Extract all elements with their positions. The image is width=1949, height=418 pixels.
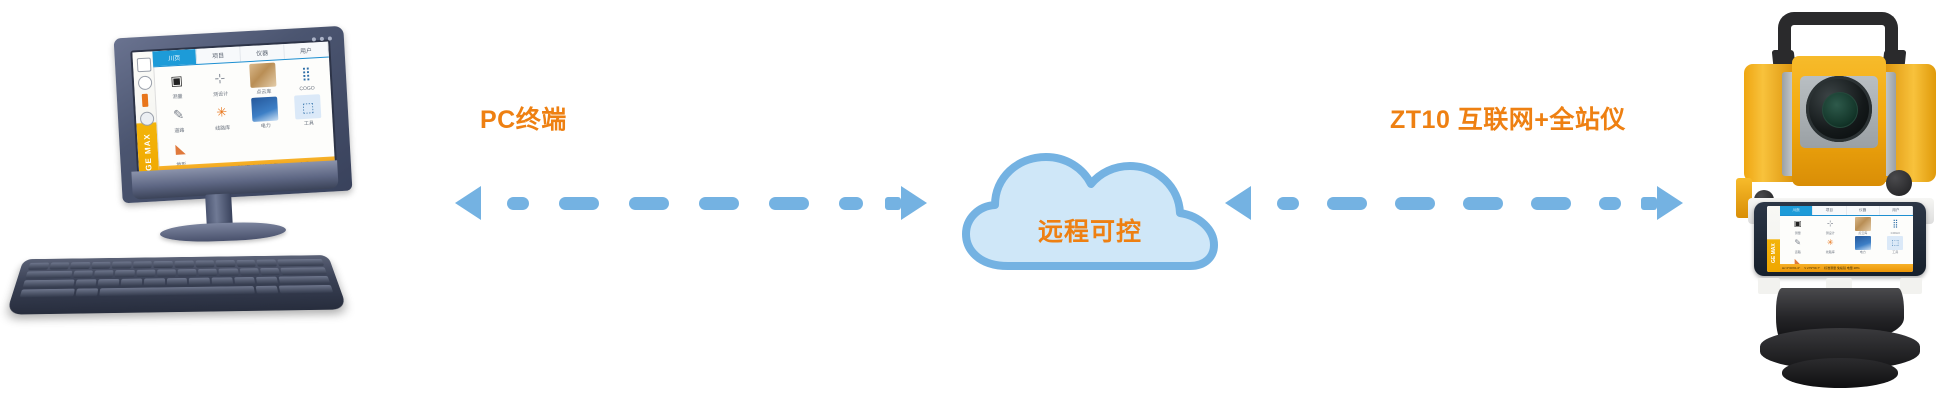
app-tile[interactable]: 点云库: [1847, 217, 1879, 235]
app-label: 线路库: [215, 124, 230, 132]
app-tile[interactable]: ✳ 线路库: [1815, 236, 1847, 254]
key[interactable]: [234, 277, 256, 285]
monitor-stand-base: [160, 221, 287, 243]
dash-segment: [699, 197, 739, 210]
connector-cloud-to-device: [1225, 186, 1705, 220]
tangent-knob-right[interactable]: [1886, 170, 1912, 196]
pc-app-grid: ▣ 测量 ⊹ 测设计 点云库 ⣿ COGO: [155, 60, 331, 165]
road-icon: ✎: [1790, 236, 1806, 250]
key[interactable]: [189, 278, 210, 286]
carry-handle: [1778, 12, 1898, 58]
app-tile[interactable]: ✳ 线路库: [200, 98, 243, 132]
total-station: GE MAX 川页 项目 仪器 用户 ▣ 测量 ⊹ 测设计: [1730, 2, 1945, 418]
key[interactable]: [198, 269, 217, 276]
layout-icon: ⊹: [1822, 217, 1838, 231]
key[interactable]: [70, 262, 90, 269]
app-tile[interactable]: ▣ 测量: [1782, 217, 1814, 235]
dash-segment: [1277, 197, 1299, 210]
arrow-tail: [1641, 197, 1657, 210]
app-tile[interactable]: ⊹ 测设计: [1815, 217, 1847, 235]
arrowhead-left-icon: [1225, 186, 1251, 220]
lens-inner-icon: [1822, 92, 1858, 128]
status-hz: Hz 0°00'01.0": [1782, 266, 1800, 270]
app-tile[interactable]: 点云库: [242, 62, 285, 96]
key[interactable]: [216, 260, 236, 267]
app-label: 工具: [304, 119, 314, 127]
app-label: COGO: [299, 85, 315, 92]
dash-segment: [629, 197, 669, 210]
app-tile[interactable]: 电力: [244, 96, 287, 130]
total-station-icon: ▣: [163, 67, 190, 92]
key[interactable]: [28, 263, 49, 270]
dash-segment: [507, 197, 529, 210]
device-screen-tabbar[interactable]: 川页 项目 仪器 用户: [1780, 206, 1913, 216]
app-tile[interactable]: ▣ 测量: [155, 67, 198, 101]
key[interactable]: [73, 270, 93, 277]
app-tile[interactable]: ⣿ COGO: [1880, 217, 1912, 235]
tab-project[interactable]: 项目: [1813, 206, 1846, 215]
cloud-node[interactable]: 远程可控: [962, 150, 1218, 272]
key-space[interactable]: [100, 286, 255, 296]
layout-icon: ⊹: [206, 65, 233, 90]
key[interactable]: [136, 270, 155, 277]
tab-user[interactable]: 用户: [284, 42, 329, 59]
led-indicator: [312, 37, 316, 41]
arrowhead-right-icon: [901, 186, 927, 220]
key[interactable]: [75, 279, 97, 287]
power-icon: [1855, 236, 1871, 250]
help-icon[interactable]: [137, 58, 152, 73]
cogo-icon: ⣿: [293, 60, 320, 85]
cloud-label: 远程可控: [962, 212, 1218, 248]
pc-screen[interactable]: GE MAX 川页 项目 仪器 用户 ▣ 测量 ⊹: [132, 42, 335, 181]
key[interactable]: [257, 260, 277, 267]
key[interactable]: [260, 268, 280, 275]
dash-segment: [1395, 197, 1435, 210]
key-shift[interactable]: [279, 276, 330, 284]
key[interactable]: [98, 279, 120, 287]
pc-workstation: GE MAX 川页 项目 仪器 用户 ▣ 测量 ⊹: [10, 18, 360, 318]
device-screen-sidebar[interactable]: GE MAX: [1767, 206, 1780, 272]
device-status-bar: Hz 0°00'01.0" V 279°59.7" 标准测量 免棱镜 电量 28…: [1780, 264, 1913, 272]
app-tile[interactable]: 电力: [1847, 236, 1879, 254]
arrow-tail: [885, 197, 901, 210]
key[interactable]: [236, 260, 256, 267]
diagram-canvas: GE MAX 川页 项目 仪器 用户 ▣ 测量 ⊹: [0, 0, 1949, 418]
key[interactable]: [112, 261, 132, 268]
line-survey-icon: ✳: [208, 99, 235, 124]
key-ctrl[interactable]: [20, 289, 75, 298]
map-thumb-icon: [249, 63, 276, 88]
key[interactable]: [49, 262, 70, 269]
arrowhead-left-icon: [455, 186, 481, 220]
app-label: 测量: [172, 93, 182, 101]
key[interactable]: [256, 277, 278, 285]
key-enter[interactable]: [280, 267, 327, 275]
key-tab[interactable]: [25, 271, 72, 279]
compass-icon[interactable]: [140, 111, 155, 126]
tab-instrument[interactable]: 仪器: [240, 44, 285, 61]
dash-segment: [839, 197, 863, 210]
key[interactable]: [91, 262, 111, 269]
dash-segment: [1463, 197, 1503, 210]
app-label: 测设计: [213, 90, 228, 98]
mount-clamp-right[interactable]: [1900, 278, 1922, 294]
device-app-grid: ▣ 测量 ⊹ 测设计 点云库 ⣿ COGO: [1782, 217, 1911, 264]
dash-segment: [1531, 197, 1571, 210]
app-label: 测设计: [1826, 231, 1835, 235]
key[interactable]: [133, 261, 152, 268]
key[interactable]: [121, 279, 142, 287]
app-label: 线路库: [1826, 250, 1835, 254]
led-indicator: [320, 37, 324, 41]
cogo-icon: ⣿: [1887, 217, 1903, 231]
key[interactable]: [219, 268, 239, 275]
app-label: 点云库: [256, 88, 271, 96]
key-caps[interactable]: [23, 280, 75, 288]
dash-segment: [769, 197, 809, 210]
led-indicator: [328, 36, 332, 40]
app-tile[interactable]: ⬚ 工具: [287, 94, 330, 128]
target-icon[interactable]: [138, 75, 153, 90]
terrain-icon: ◣: [167, 135, 194, 160]
keyboard[interactable]: [6, 255, 348, 315]
tab-project[interactable]: 项目: [196, 46, 241, 63]
power-icon: [251, 97, 278, 122]
app-label: 电力: [1860, 250, 1866, 254]
base-foot: [1782, 358, 1898, 388]
app-tile[interactable]: ✎ 道路: [157, 101, 200, 135]
app-tile[interactable]: ⣿ COGO: [285, 60, 328, 94]
arrowhead-right-icon: [1657, 186, 1683, 220]
label-zt10-device: ZT10 互联网+全站仪: [1390, 100, 1626, 136]
key[interactable]: [239, 268, 259, 275]
key-alt-right[interactable]: [255, 286, 278, 294]
status-mode: 标准测量 免棱镜 电量 28%: [1824, 266, 1860, 270]
key-alt[interactable]: [75, 288, 98, 296]
key[interactable]: [115, 270, 134, 277]
app-tile[interactable]: ✎ 道路: [1782, 236, 1814, 254]
key-ctrl-right[interactable]: [279, 285, 333, 293]
tab-user[interactable]: 用户: [1880, 206, 1913, 215]
key[interactable]: [144, 278, 165, 286]
dash-segment: [559, 197, 599, 210]
key[interactable]: [154, 261, 173, 268]
label-pc-terminal: PC终端: [480, 100, 567, 136]
key-backspace[interactable]: [277, 259, 324, 266]
connector-pc-to-cloud: [455, 186, 955, 220]
app-label: 点云库: [1858, 231, 1867, 235]
mounted-smartphone[interactable]: GE MAX 川页 项目 仪器 用户 ▣ 测量 ⊹ 测设计: [1754, 202, 1926, 276]
app-tile[interactable]: ⬚ 工具: [1880, 236, 1912, 254]
app-label: COGO: [1891, 231, 1900, 235]
key[interactable]: [195, 260, 214, 267]
dash-segment: [1599, 197, 1621, 210]
status-v: V 279°59.7": [1804, 266, 1820, 270]
app-label: 工具: [1892, 250, 1898, 254]
line-survey-icon: ✳: [1822, 236, 1838, 250]
tab-home[interactable]: 川页: [1780, 206, 1813, 215]
tab-instrument[interactable]: 仪器: [1847, 206, 1880, 215]
app-tile[interactable]: ⊹ 测设计: [199, 65, 242, 99]
tab-home[interactable]: 川页: [152, 49, 197, 66]
app-label: 测量: [1795, 231, 1801, 235]
key[interactable]: [94, 270, 114, 277]
objective-lens-icon: [1806, 76, 1872, 142]
key[interactable]: [175, 261, 194, 268]
total-station-icon: ▣: [1790, 217, 1806, 231]
tools-icon: ⬚: [294, 94, 321, 119]
key[interactable]: [178, 269, 197, 276]
cloud-shape-icon: [962, 150, 1218, 272]
app-label: 道路: [174, 127, 184, 135]
app-label: 道路: [1795, 250, 1801, 254]
key[interactable]: [157, 269, 176, 276]
key[interactable]: [167, 278, 188, 286]
road-icon: ✎: [165, 101, 192, 126]
mount-clamp-left[interactable]: [1758, 278, 1780, 294]
pin-icon[interactable]: [142, 94, 149, 107]
key[interactable]: [212, 277, 233, 285]
map-thumb-icon: [1855, 217, 1871, 231]
device-screen[interactable]: GE MAX 川页 项目 仪器 用户 ▣ 测量 ⊹ 测设计: [1767, 206, 1913, 272]
app-label: 电力: [261, 122, 271, 130]
tools-icon: ⬚: [1887, 236, 1903, 250]
dash-segment: [1327, 197, 1367, 210]
